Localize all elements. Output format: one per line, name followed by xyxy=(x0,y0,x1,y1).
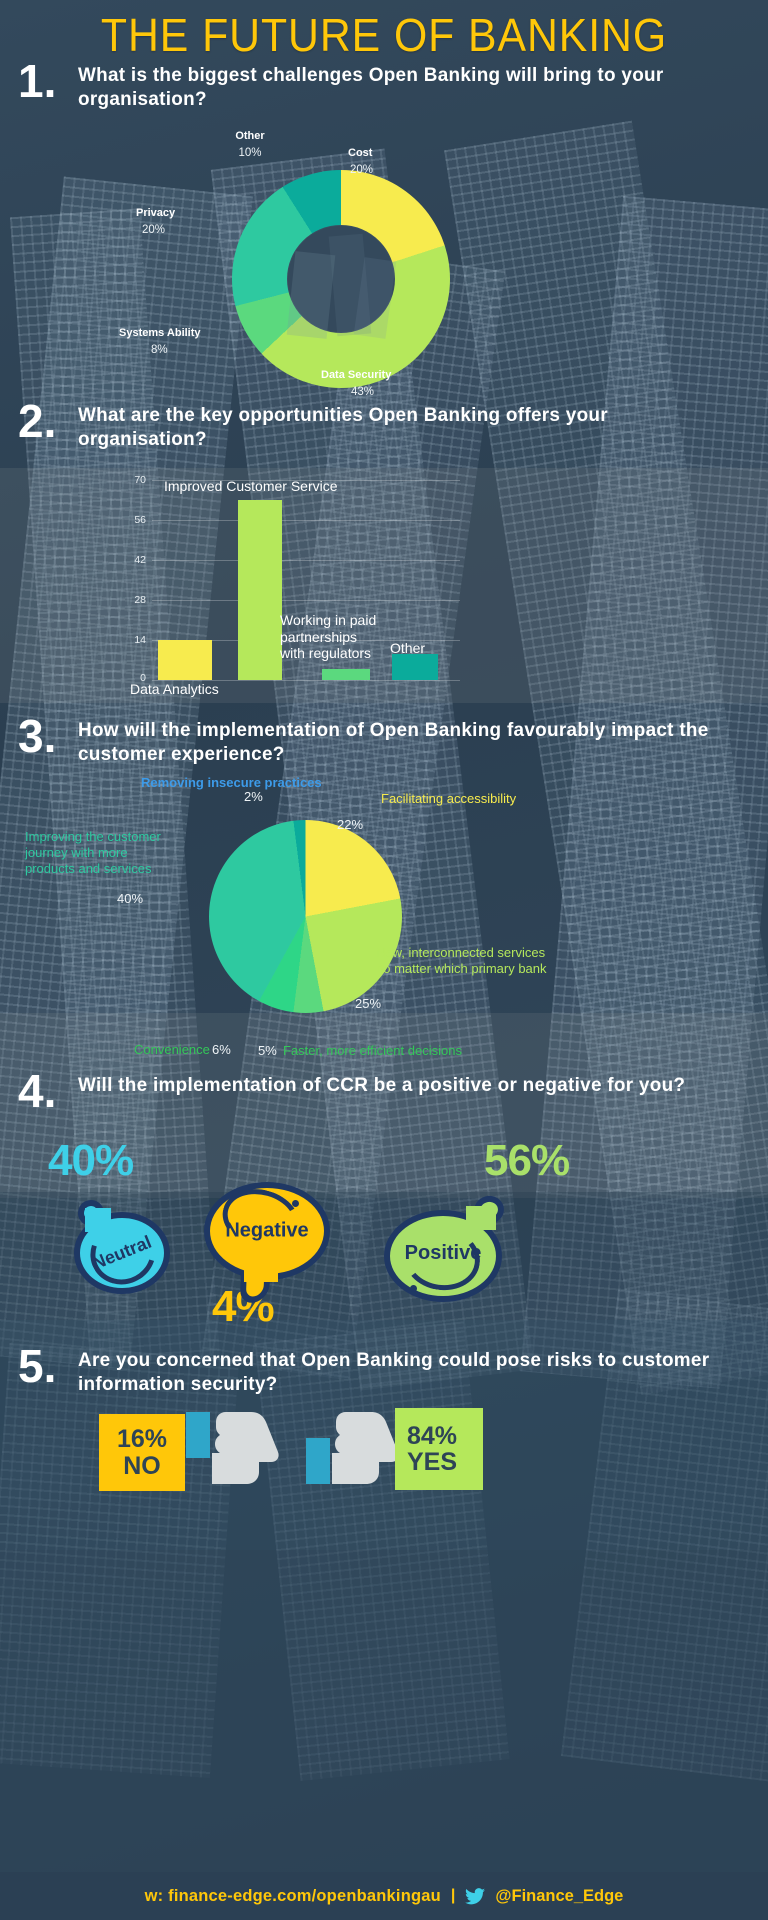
question-5-number-text: 5. xyxy=(18,1340,56,1392)
question-1-number: 1. xyxy=(18,60,68,102)
question-4-text: Will the implementation of CCR be a posi… xyxy=(78,1070,685,1098)
donut-label-cost: Cost xyxy=(348,147,372,161)
pie-label-improving-customer-journey: Improving the customer journey with more… xyxy=(25,829,161,877)
donut-label-systems-ability: Systems Ability xyxy=(119,327,201,341)
donut-value-privacy: 20% xyxy=(142,223,165,237)
pie-label-new-interconnected-services: New, interconnected services no matter w… xyxy=(376,945,547,977)
page-title: THE FUTURE OF BANKING xyxy=(27,8,741,62)
thumbs-up-icon xyxy=(306,1402,400,1494)
question-2-text: What are the key opportunities Open Bank… xyxy=(78,400,729,452)
y-tick-42: 42 xyxy=(118,554,146,566)
pie-label-facilitating-accessibility: Facilitating accessibility xyxy=(381,791,516,807)
pie-chart-q3 xyxy=(209,820,402,1013)
answer-no-word: NO xyxy=(123,1453,161,1479)
question-5-number: 5. xyxy=(18,1345,68,1387)
bar-label-data-analytics: Data Analytics xyxy=(130,681,219,698)
pie-value-faster-decisions: 5% xyxy=(258,1043,277,1058)
answer-yes-percent: 84% xyxy=(407,1423,457,1449)
question-4-number-text: 4. xyxy=(18,1065,56,1117)
donut-hole xyxy=(287,225,395,333)
question-1-number-text: 1. xyxy=(18,55,56,107)
pie-value-improving-customer-journey: 40% xyxy=(117,891,143,906)
footer-url[interactable]: w: finance-edge.com/openbankingau xyxy=(145,1887,441,1906)
donut-value-systems-ability: 8% xyxy=(151,343,168,357)
speech-bubble-positive-label: Positive xyxy=(384,1242,502,1265)
twitter-bird-icon xyxy=(465,1888,485,1905)
pie-value-facilitating-accessibility: 22% xyxy=(337,817,363,832)
y-tick-70: 70 xyxy=(118,474,146,486)
y-tick-56: 56 xyxy=(118,514,146,526)
bar-label-improved-customer-service: Improved Customer Service xyxy=(164,478,338,495)
pie-value-removing-insecure-practices: 2% xyxy=(244,789,263,804)
neutral-percent: 40% xyxy=(48,1136,133,1186)
bar-improved-customer-service xyxy=(238,500,282,680)
question-4-row: 4. Will the implementation of CCR be a p… xyxy=(18,1070,750,1112)
pie-value-new-interconnected-services: 25% xyxy=(355,996,381,1011)
bar-other xyxy=(392,654,438,680)
y-tick-14: 14 xyxy=(118,634,146,646)
question-5-text: Are you concerned that Open Banking coul… xyxy=(78,1345,729,1397)
question-3-text: How will the implementation of Open Bank… xyxy=(78,715,729,767)
pie-label-faster-decisions: Faster, more efficient decisions xyxy=(283,1043,462,1059)
donut-value-cost: 20% xyxy=(350,163,373,177)
answer-no-box: 16% NO xyxy=(99,1414,185,1491)
donut-chart-q1 xyxy=(232,170,450,388)
donut-value-other: 10% xyxy=(232,146,268,160)
question-2-number-text: 2. xyxy=(18,395,56,447)
answer-no-percent: 16% xyxy=(117,1426,167,1452)
donut-label-other: Other xyxy=(232,130,268,144)
question-4-number: 4. xyxy=(18,1070,68,1112)
positive-percent: 56% xyxy=(484,1136,569,1186)
speech-bubble-negative-label: Negative xyxy=(204,1220,330,1243)
donut-label-privacy: Privacy xyxy=(136,207,175,221)
answer-yes-box: 84% YES xyxy=(395,1408,483,1490)
bar-paid-partnerships xyxy=(322,669,370,680)
answer-yes-word: YES xyxy=(407,1449,457,1475)
bar-data-analytics xyxy=(158,640,212,680)
infographic-page: THE FUTURE OF BANKING 1. What is the big… xyxy=(0,0,768,1920)
question-1-text: What is the biggest challenges Open Bank… xyxy=(78,60,729,112)
bar-label-other-q2: Other xyxy=(390,640,425,657)
footer-separator: | xyxy=(451,1887,455,1905)
question-2-number: 2. xyxy=(18,400,68,442)
pie-value-convenience: 6% xyxy=(212,1042,231,1057)
speech-bubble-neutral: Neutral xyxy=(74,1212,170,1294)
footer: w: finance-edge.com/openbankingau | @Fin… xyxy=(0,1872,768,1920)
question-2-row: 2. What are the key opportunities Open B… xyxy=(18,400,750,452)
speech-bubble-negative: Negative xyxy=(204,1182,330,1280)
question-3-number: 3. xyxy=(18,715,68,757)
thumbs-down-icon xyxy=(186,1402,280,1494)
y-tick-28: 28 xyxy=(118,594,146,606)
footer-handle[interactable]: @Finance_Edge xyxy=(495,1887,623,1906)
question-1-row: 1. What is the biggest challenges Open B… xyxy=(18,60,750,112)
pie-label-removing-insecure-practices: Removing insecure practices xyxy=(141,775,322,791)
bar-label-paid-partnerships: Working in paid partnerships with regula… xyxy=(280,612,376,662)
donut-label-data-security: Data Security xyxy=(321,369,391,383)
pie-label-convenience: Convenience xyxy=(134,1042,210,1058)
question-5-row: 5. Are you concerned that Open Banking c… xyxy=(18,1345,750,1397)
question-3-number-text: 3. xyxy=(18,710,56,762)
question-3-row: 3. How will the implementation of Open B… xyxy=(18,715,750,767)
speech-bubble-positive: Positive xyxy=(384,1210,502,1302)
donut-value-data-security: 43% xyxy=(351,385,374,399)
